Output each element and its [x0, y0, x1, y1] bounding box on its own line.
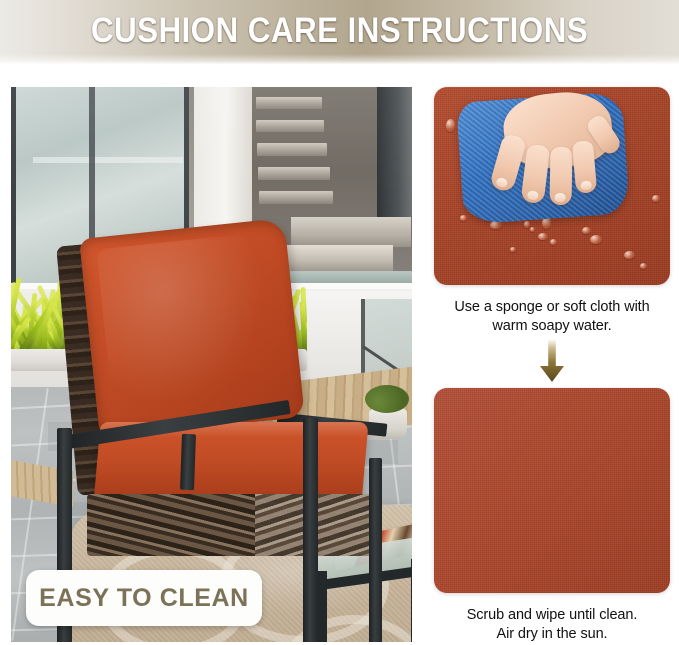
fingernail: [580, 180, 592, 190]
chair-leg: [303, 418, 318, 642]
easy-to-clean-badge: EASY TO CLEAN: [26, 570, 262, 626]
stair-tread: [258, 167, 330, 180]
chair-leg: [369, 458, 382, 642]
clean-fabric-photo: [434, 388, 670, 593]
caption-line: Use a sponge or soft cloth with: [434, 298, 670, 317]
step-2-caption: Scrub and wipe until clean. Air dry in t…: [434, 606, 670, 644]
easy-to-clean-label: EASY TO CLEAN: [39, 584, 249, 613]
chair-arm-support: [180, 434, 196, 490]
stair-tread: [256, 97, 322, 109]
fabric-texture: [434, 388, 670, 593]
finger: [489, 133, 528, 193]
step-arrow-container: [434, 336, 670, 388]
caption-line: Scrub and wipe until clean.: [434, 606, 670, 625]
fingernail: [555, 193, 566, 202]
chair-wicker-base: [87, 494, 377, 556]
hand: [486, 91, 626, 199]
header-banner: CUSHION CARE INSTRUCTIONS: [0, 0, 679, 64]
main-product-photo: [11, 87, 412, 642]
finger: [549, 147, 572, 205]
sponge-cloth-photo: [434, 87, 670, 285]
caption-line: warm soapy water.: [434, 317, 670, 336]
door-frame: [377, 87, 412, 237]
window-sash: [33, 157, 183, 163]
down-arrow-icon: [537, 339, 567, 383]
table-leg: [411, 559, 412, 642]
step-1-caption: Use a sponge or soft cloth with warm soa…: [434, 298, 670, 336]
stair-tread: [256, 120, 324, 132]
fingernail: [527, 190, 539, 200]
finger: [572, 140, 597, 194]
care-steps-column: Use a sponge or soft cloth with warm soa…: [434, 87, 670, 645]
page-title: CUSHION CARE INSTRUCTIONS: [34, 11, 645, 51]
stair-tread: [259, 191, 333, 204]
fingernail: [495, 177, 508, 189]
stair-tread: [257, 143, 327, 156]
